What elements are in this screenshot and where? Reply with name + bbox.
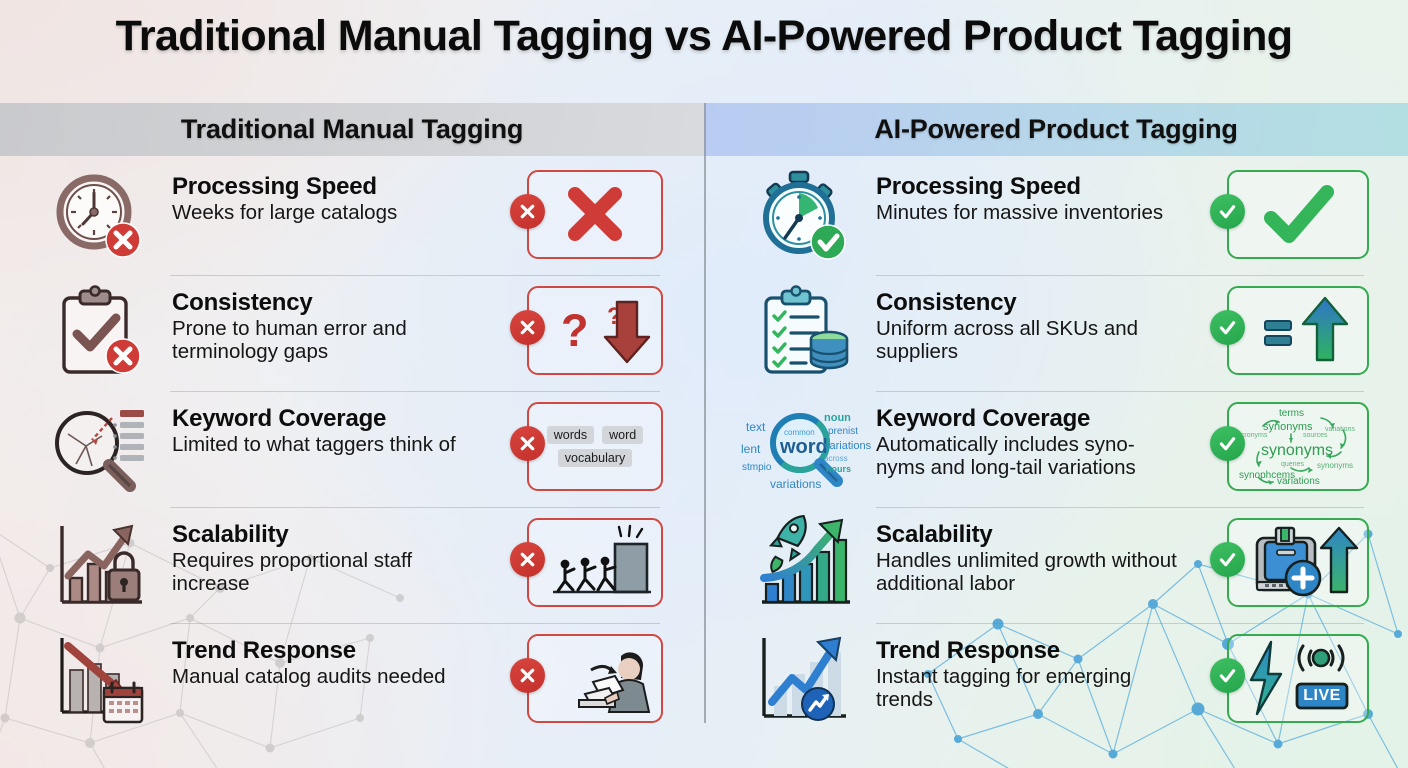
- verdict-card-keyword-chips: words word vocabulary: [527, 402, 663, 491]
- word-cloud-term: variations: [824, 440, 871, 452]
- comparison-row: Scalability Handles unlimited growth wit…: [704, 508, 1408, 624]
- row-description: Prone to human error and terminology gap…: [172, 318, 472, 364]
- keyword-chip: words: [547, 426, 594, 444]
- upward-trend-chart-icon: [750, 630, 858, 730]
- synonym-term: synonyms: [1317, 461, 1353, 470]
- verdict-card-equals-up-arrow: [1227, 286, 1369, 375]
- word-cloud-term: word: [780, 436, 828, 459]
- row-title: Scalability: [172, 522, 472, 547]
- clipboard-check-with-x-icon: [46, 282, 154, 382]
- verdict-card-big-red-x: [527, 170, 663, 259]
- row-description: Manual catalog audits needed: [172, 666, 472, 689]
- comparison-row: Processing Speed Minutes for massive inv…: [704, 160, 1408, 276]
- row-description: Uniform across all SKUs and suppliers: [876, 318, 1186, 364]
- page-title: Traditional Manual Tagging vs AI-Powered…: [0, 12, 1408, 61]
- column-header-left-label: Traditional Manual Tagging: [181, 114, 523, 145]
- synonym-term: synonyms: [1261, 442, 1333, 460]
- check-badge: [1210, 310, 1245, 345]
- comparison-row: Processing Speed Weeks for large catalog…: [0, 160, 704, 276]
- row-text-block: Processing Speed Minutes for massive inv…: [876, 174, 1186, 225]
- row-description: Limited to what taggers think of: [172, 434, 472, 457]
- checklist-database-icon: [750, 282, 858, 382]
- check-badge: [1210, 542, 1245, 577]
- row-title: Processing Speed: [172, 174, 472, 199]
- comparison-row: Consistency Uniform across all SKUs and …: [704, 276, 1408, 392]
- row-title: Trend Response: [172, 638, 472, 663]
- verdict-card-big-green-check: [1227, 170, 1369, 259]
- synonym-map-group: terms synonyms variations acronyms sourc…: [1229, 404, 1367, 489]
- row-text-block: Trend Response Instant tagging for emerg…: [876, 638, 1186, 712]
- row-text-block: Keyword Coverage Limited to what taggers…: [172, 406, 472, 457]
- column-header-right: AI-Powered Product Tagging: [704, 103, 1408, 156]
- rocket-growth-chart-icon: [750, 514, 858, 614]
- x-badge: [510, 542, 545, 577]
- verdict-card-people-pushing-block: [527, 518, 663, 607]
- word-cloud-term: lent: [741, 442, 760, 456]
- check-badge: [1210, 658, 1245, 693]
- row-text-block: Consistency Uniform across all SKUs and …: [876, 290, 1186, 364]
- comparison-row: text noun lent common word prenist varia…: [704, 392, 1408, 508]
- row-title: Consistency: [876, 290, 1186, 315]
- growth-chart-with-lock-icon: [46, 514, 154, 614]
- verdict-card-synonyms-map: terms synonyms variations acronyms sourc…: [1227, 402, 1369, 491]
- word-cloud-term: across: [824, 454, 848, 463]
- clock-with-x-icon: [46, 166, 154, 266]
- check-badge: [1210, 426, 1245, 461]
- synonym-term: sources: [1303, 432, 1328, 439]
- synonym-term: terms: [1279, 408, 1304, 419]
- comparison-row: Keyword Coverage Limited to what taggers…: [0, 392, 704, 508]
- comparison-row: Trend Response Instant tagging for emerg…: [704, 624, 1408, 740]
- word-cloud-term: variations: [770, 477, 821, 491]
- word-cloud-term: hours: [826, 464, 851, 474]
- column-header-right-label: AI-Powered Product Tagging: [874, 114, 1237, 145]
- row-title: Keyword Coverage: [172, 406, 472, 431]
- row-text-block: Trend Response Manual catalog audits nee…: [172, 638, 472, 689]
- keyword-chip: vocabulary: [558, 449, 632, 467]
- declining-chart-calendar-icon: [46, 630, 154, 730]
- keyword-chip: word: [602, 426, 643, 444]
- row-description: Minutes for massive inventories: [876, 202, 1186, 225]
- word-cloud-term: stmpio: [742, 462, 771, 473]
- comparison-row: Scalability Requires proportional staff …: [0, 508, 704, 624]
- x-badge: [510, 194, 545, 229]
- row-description: Automatically includes syno- nyms and lo…: [876, 434, 1186, 480]
- word-cloud-term: text: [746, 420, 765, 434]
- row-description: Instant tagging for emerging trends: [876, 666, 1186, 712]
- row-description: Handles unlimited growth without additio…: [876, 550, 1186, 596]
- x-badge: [510, 658, 545, 693]
- column-traditional-manual-tagging: Processing Speed Weeks for large catalog…: [0, 160, 704, 760]
- row-text-block: Keyword Coverage Automatically includes …: [876, 406, 1186, 480]
- column-header-left: Traditional Manual Tagging: [0, 103, 704, 156]
- infographic-canvas: Traditional Manual Tagging vs AI-Powered…: [0, 0, 1408, 768]
- row-description-line2: nyms and long-tail variations: [876, 457, 1186, 480]
- column-ai-powered-product-tagging: Processing Speed Minutes for massive inv…: [704, 160, 1408, 760]
- row-text-block: Consistency Prone to human error and ter…: [172, 290, 472, 364]
- synonym-term: variations: [1325, 426, 1355, 433]
- synonym-term: queries: [1281, 461, 1304, 468]
- row-description-line1: Automatically includes syno-: [876, 434, 1186, 457]
- stopwatch-with-check-icon: [750, 166, 858, 266]
- verdict-card-server-plus-up-arrow: [1227, 518, 1369, 607]
- synonym-term: variations: [1277, 476, 1320, 487]
- row-title: Keyword Coverage: [876, 406, 1186, 431]
- row-text-block: Processing Speed Weeks for large catalog…: [172, 174, 472, 225]
- keyword-chip-group: words word vocabulary: [529, 404, 661, 489]
- magnifier-word-cloud-icon: text noun lent common word prenist varia…: [740, 398, 866, 498]
- row-description: Weeks for large catalogs: [172, 202, 472, 225]
- word-cloud-term: noun: [824, 412, 851, 424]
- row-description: Requires proportional staff increase: [172, 550, 472, 596]
- row-text-block: Scalability Requires proportional staff …: [172, 522, 472, 596]
- check-badge: [1210, 194, 1245, 229]
- live-label: LIVE: [1297, 684, 1347, 708]
- x-badge: [510, 310, 545, 345]
- comparison-row: Trend Response Manual catalog audits nee…: [0, 624, 704, 740]
- cracked-magnifier-checklist-icon: [46, 398, 154, 498]
- row-title: Consistency: [172, 290, 472, 315]
- comparison-row: Consistency Prone to human error and ter…: [0, 276, 704, 392]
- word-cloud-term: prenist: [828, 426, 858, 437]
- x-badge: [510, 426, 545, 461]
- verdict-card-lightning-live-broadcast: LIVE: [1227, 634, 1369, 723]
- verdict-card-person-sorting-papers: [527, 634, 663, 723]
- row-title: Processing Speed: [876, 174, 1186, 199]
- row-title: Scalability: [876, 522, 1186, 547]
- row-text-block: Scalability Handles unlimited growth wit…: [876, 522, 1186, 596]
- svg-text:?: ?: [561, 305, 589, 356]
- row-title: Trend Response: [876, 638, 1186, 663]
- verdict-card-question-down-arrow: ? ?: [527, 286, 663, 375]
